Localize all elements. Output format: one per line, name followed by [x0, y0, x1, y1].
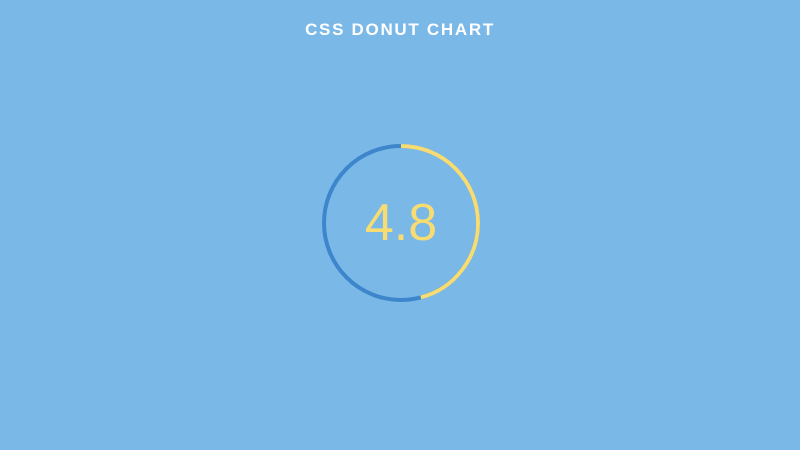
donut-chart-svg	[321, 143, 481, 303]
donut-chart-page: CSS DONUT CHART 4.8	[0, 0, 800, 450]
page-title: CSS DONUT CHART	[0, 19, 800, 41]
donut-chart[interactable]: 4.8	[321, 143, 481, 303]
